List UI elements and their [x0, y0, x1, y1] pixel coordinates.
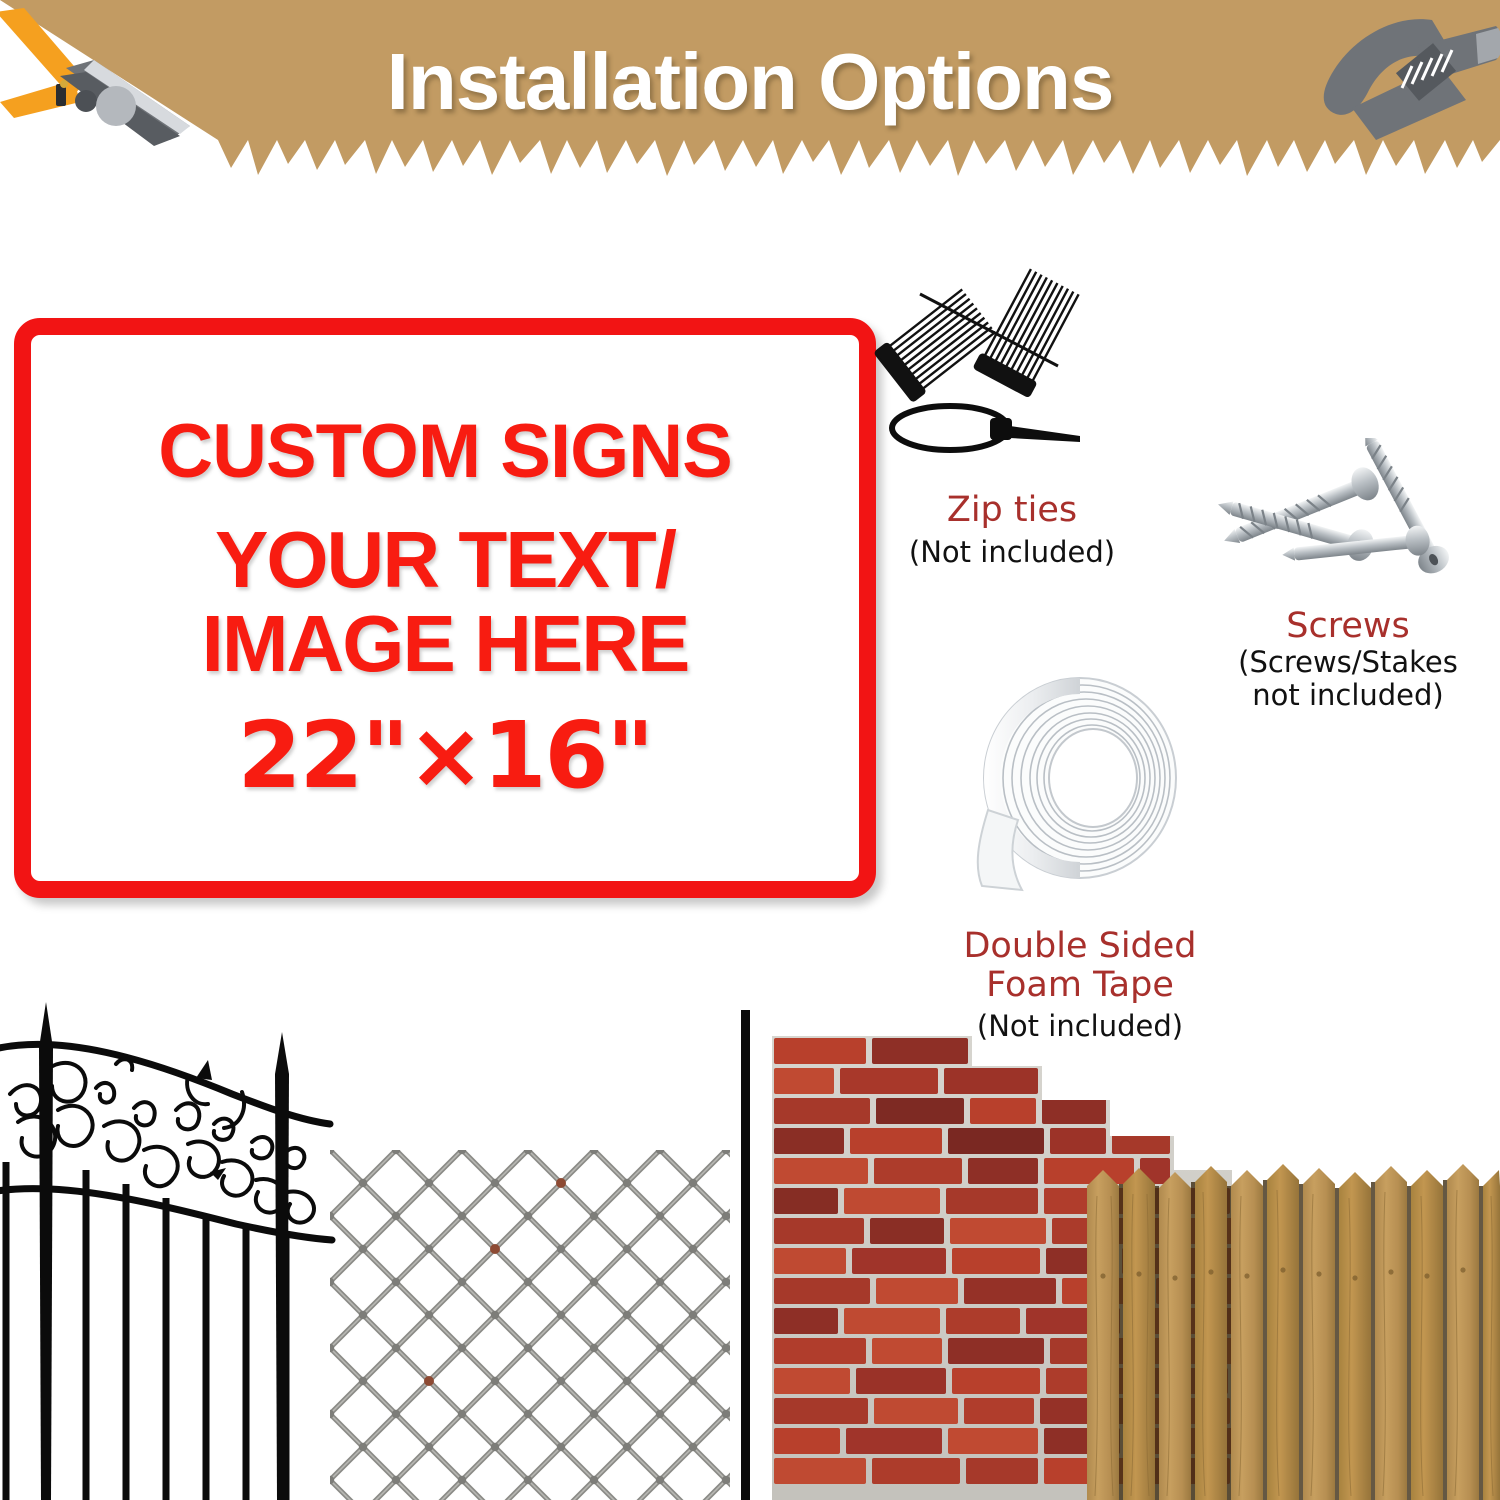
- chain-link-fence-image: [330, 1150, 730, 1500]
- supply-screws: Screws (Screws/Stakes not included): [1198, 438, 1498, 712]
- sign-headline: CUSTOM SIGNS: [31, 414, 859, 490]
- custom-sign-preview[interactable]: CUSTOM SIGNS YOUR TEXT/ IMAGE HERE 22"×1…: [14, 318, 876, 898]
- zip-ties-label: Zip ties: [862, 491, 1162, 530]
- zip-ties-icon: [862, 268, 1162, 478]
- scene-divider: [741, 1010, 750, 1500]
- screws-label: Screws: [1198, 607, 1498, 646]
- screws-note-line-2: not included): [1198, 679, 1498, 712]
- sign-subline-1: YOUR TEXT/: [31, 520, 859, 600]
- header-banner: Installation Options: [0, 0, 1500, 230]
- sign-subline-2: IMAGE HERE: [31, 604, 859, 684]
- installation-surfaces: [0, 980, 1500, 1500]
- zip-ties-note: (Not included): [862, 536, 1162, 569]
- foam-tape-label-line-1: Double Sided: [930, 927, 1230, 966]
- screws-icon: [1198, 438, 1498, 588]
- wood-picket-fence-image: [1085, 1156, 1500, 1500]
- double-sided-tape-icon: [930, 660, 1230, 920]
- single-zip-tie-icon: [892, 406, 1080, 450]
- screws-note: (Screws/Stakes not included): [1198, 646, 1498, 713]
- page-title: Installation Options: [0, 36, 1500, 128]
- wrought-iron-gate-image: [0, 1002, 340, 1500]
- sign-size-label: 22"×16": [31, 710, 859, 802]
- screws-note-line-1: (Screws/Stakes: [1198, 646, 1498, 679]
- supply-zip-ties: Zip ties (Not included): [862, 268, 1162, 569]
